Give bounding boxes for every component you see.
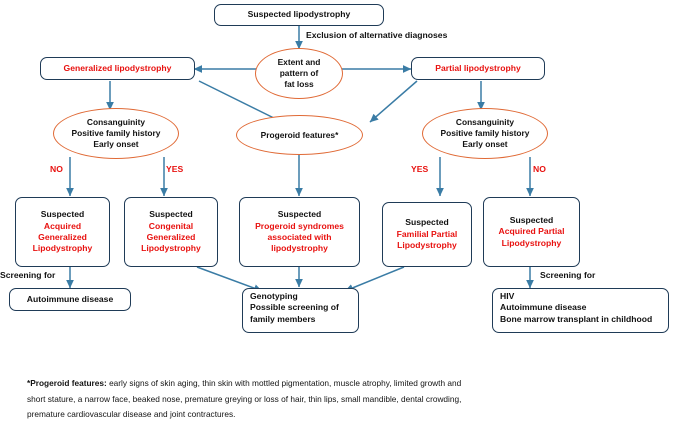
node-suspected-acquired-generalized[interactable]: Suspected Acquired Generalized Lipodystr… — [15, 197, 110, 267]
node-autoimmune-disease-label: Autoimmune disease — [27, 294, 113, 305]
acq-gen-line-1: Suspected — [41, 209, 84, 220]
node-criteria-left[interactable]: Consanguinity Positive family history Ea… — [53, 108, 179, 159]
acq-gen-line-2: Acquired — [44, 221, 81, 232]
fam-par-line-2: Familial Partial — [397, 229, 458, 240]
node-suspected-progeroid-syndromes[interactable]: Suspected Progeroid syndromes associated… — [239, 197, 360, 267]
hiv-line-2: Autoimmune disease — [500, 302, 586, 313]
hiv-line-3: Bone marrow transplant in childhood — [500, 314, 652, 325]
criteria-left-line-1: Consanguinity — [87, 117, 145, 128]
genotyping-line-1: Genotyping — [250, 291, 298, 302]
prog-syn-line-4: lipodystrophy — [271, 243, 328, 254]
edge-label-no-left: NO — [50, 164, 63, 174]
node-suspected-familial-partial[interactable]: Suspected Familial Partial Lipodystrophy — [382, 202, 472, 267]
edge-label-yes-right: YES — [411, 164, 428, 174]
criteria-left-line-3: Early onset — [93, 139, 138, 150]
footnote-line-1: early signs of skin aging, thin skin wit… — [107, 378, 461, 388]
node-extent-pattern-fat-loss[interactable]: Extent and pattern of fat loss — [255, 48, 343, 99]
node-suspected-acquired-partial[interactable]: Suspected Acquired Partial Lipodystrophy — [483, 197, 580, 267]
cong-gen-line-1: Suspected — [149, 209, 192, 220]
genotyping-line-3: family members — [250, 314, 315, 325]
node-partial-lipodystrophy[interactable]: Partial lipodystrophy — [411, 57, 545, 80]
node-suspected-lipodystrophy[interactable]: Suspected lipodystrophy — [214, 4, 384, 26]
cong-gen-line-3: Generalized — [147, 232, 196, 243]
flowchart-canvas: Suspected lipodystrophy Extent and patte… — [0, 0, 685, 431]
node-progeroid-features-label: Progeroid features* — [261, 130, 339, 141]
criteria-right-line-3: Early onset — [462, 139, 507, 150]
node-partial-lipodystrophy-label: Partial lipodystrophy — [435, 63, 520, 74]
footnote-line-3: premature cardiovascular disease and joi… — [27, 407, 667, 423]
acq-par-line-3: Lipodystrophy — [502, 238, 562, 249]
edge-label-screening-right: Screening for — [540, 270, 595, 280]
node-genotyping[interactable]: Genotyping Possible screening of family … — [242, 288, 359, 333]
footnote-progeroid-features: *Progeroid features: early signs of skin… — [27, 376, 667, 423]
acq-par-line-2: Acquired Partial — [499, 226, 565, 237]
node-progeroid-features[interactable]: Progeroid features* — [236, 115, 363, 155]
footnote-line-2: short stature, a narrow face, beaked nos… — [27, 392, 667, 408]
fam-par-line-3: Lipodystrophy — [397, 240, 457, 251]
prog-syn-line-2: Progeroid syndromes — [255, 221, 344, 232]
acq-gen-line-4: Lipodystrophy — [33, 243, 93, 254]
node-generalized-lipodystrophy-label: Generalized lipodystrophy — [64, 63, 172, 74]
prog-syn-line-1: Suspected — [278, 209, 321, 220]
fam-par-line-1: Suspected — [405, 217, 448, 228]
node-hiv-screening[interactable]: HIV Autoimmune disease Bone marrow trans… — [492, 288, 669, 333]
criteria-right-line-1: Consanguinity — [456, 117, 514, 128]
acq-par-line-1: Suspected — [510, 215, 553, 226]
edge-label-screening-left: Screening for — [0, 270, 55, 280]
node-generalized-lipodystrophy[interactable]: Generalized lipodystrophy — [40, 57, 195, 80]
prog-syn-line-3: associated with — [268, 232, 332, 243]
edge-label-exclusion: Exclusion of alternative diagnoses — [306, 30, 447, 40]
extent-line-2: pattern of — [280, 68, 319, 79]
criteria-right-line-2: Positive family history — [441, 128, 530, 139]
extent-line-3: fat loss — [284, 79, 313, 90]
footnote-lead: *Progeroid features: — [27, 378, 107, 388]
node-autoimmune-disease[interactable]: Autoimmune disease — [9, 288, 131, 311]
extent-line-1: Extent and — [278, 57, 321, 68]
genotyping-line-2: Possible screening of — [250, 302, 339, 313]
cong-gen-line-2: Congenital — [149, 221, 193, 232]
node-suspected-lipodystrophy-label: Suspected lipodystrophy — [248, 9, 351, 20]
criteria-left-line-2: Positive family history — [72, 128, 161, 139]
edge-label-yes-left: YES — [166, 164, 183, 174]
edge-partial-to-progeroid — [370, 81, 417, 122]
hiv-line-1: HIV — [500, 291, 514, 302]
edge-label-no-right: NO — [533, 164, 546, 174]
acq-gen-line-3: Generalized — [38, 232, 87, 243]
cong-gen-line-4: Lipodystrophy — [141, 243, 201, 254]
node-suspected-congenital-generalized[interactable]: Suspected Congenital Generalized Lipodys… — [124, 197, 218, 267]
node-criteria-right[interactable]: Consanguinity Positive family history Ea… — [422, 108, 548, 159]
